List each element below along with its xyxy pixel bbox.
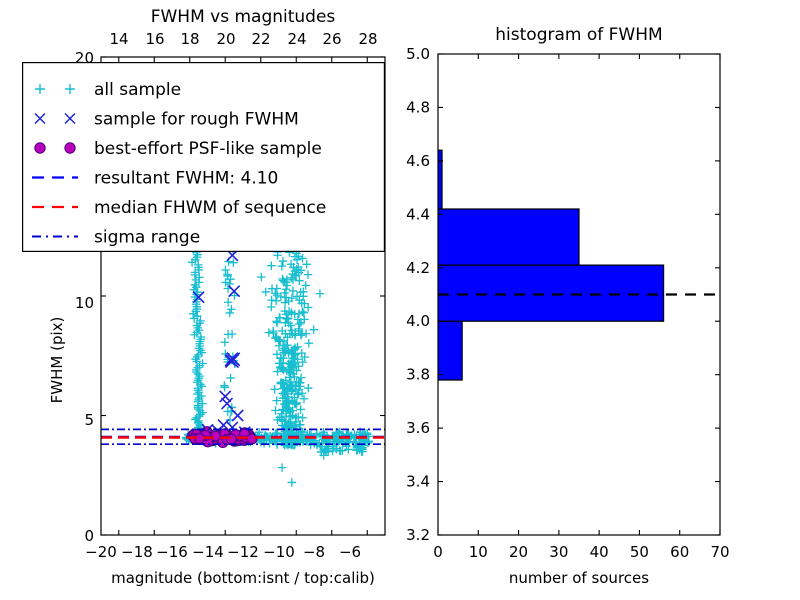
right-y-tick-label: 3.8 <box>406 366 430 384</box>
right-y-tick-label: 4.2 <box>406 259 430 277</box>
right-x-tick-label: 20 <box>509 543 528 561</box>
histogram-bar <box>438 150 442 209</box>
right-y-tick-label: 4.0 <box>406 312 430 330</box>
right-y-tick-label: 4.8 <box>406 98 430 116</box>
right-x-tick-label: 0 <box>433 543 443 561</box>
histogram-bar <box>438 209 579 265</box>
bottom-tick-label: −20 <box>85 543 117 561</box>
right-x-tick-label: 30 <box>549 543 568 561</box>
top-tick-label: 24 <box>287 30 306 48</box>
right-x-tick-label: 40 <box>590 543 609 561</box>
bottom-tick-label: −12 <box>227 543 259 561</box>
legend-svg: all samplesample for rough FWHMbest-effo… <box>22 62 385 252</box>
right-x-tick-label: 60 <box>670 543 689 561</box>
bottom-tick-label: −14 <box>192 543 224 561</box>
legend-item-label: sigma range <box>94 228 200 248</box>
top-tick-label: 20 <box>216 30 235 48</box>
scatter-data-layer <box>182 233 373 486</box>
top-tick-label: 26 <box>322 30 341 48</box>
left-xaxis-top-ticklabels: 14 16 18 20 22 24 26 28 <box>109 30 377 48</box>
right-x-tick-label: 50 <box>630 543 649 561</box>
legend-item-label: all sample <box>94 80 181 100</box>
legend-item-label: best-effort PSF-like sample <box>94 139 322 159</box>
top-tick-label: 14 <box>109 30 128 48</box>
legend-item-label: sample for rough FWHM <box>94 110 299 130</box>
legend-item-label: median FHWM of sequence <box>94 198 326 218</box>
right-histogram-panel: histogram of FWHM 3.23.43.63.84.04.24.44… <box>390 0 800 600</box>
left-xaxis-bottom-ticklabels: −20 −18 −16 −14 −12 −10 −8 −6 <box>85 543 361 561</box>
top-tick-label: 18 <box>180 30 199 48</box>
legend-box: all samplesample for rough FWHMbest-effo… <box>22 62 385 252</box>
right-y-tick-label: 5.0 <box>406 45 430 63</box>
top-tick-label: 28 <box>358 30 377 48</box>
histogram-bar <box>438 265 664 321</box>
histogram-bars-layer <box>438 150 664 380</box>
figure-canvas: FWHM vs magnitudes 14 16 18 20 22 24 26 … <box>0 0 800 600</box>
right-x-tick-label: 10 <box>469 543 488 561</box>
right-xaxis-label: number of sources <box>509 569 649 587</box>
histogram-bar <box>438 321 462 380</box>
left-xaxis-label: magnitude (bottom:isnt / top:calib) <box>111 569 375 587</box>
top-tick-label: 16 <box>145 30 164 48</box>
right-y-tick-label: 3.4 <box>406 473 430 491</box>
bottom-tick-label: −8 <box>303 543 325 561</box>
right-panel-svg: histogram of FWHM 3.23.43.63.84.04.24.44… <box>390 0 800 600</box>
y-tick-label: 10 <box>75 294 94 312</box>
bottom-tick-label: −18 <box>121 543 153 561</box>
bottom-tick-label: −10 <box>263 543 295 561</box>
right-y-tick-label: 4.4 <box>406 205 430 223</box>
right-xaxis-ticklabels: 010203040506070 <box>433 543 729 561</box>
right-y-tick-label: 3.2 <box>406 526 430 544</box>
right-x-tick-label: 70 <box>710 543 729 561</box>
legend-item-label: resultant FWHM: 4.10 <box>94 169 278 189</box>
top-tick-label: 22 <box>251 30 270 48</box>
left-yaxis-label: FWHM (pix) <box>48 317 66 404</box>
right-yaxis-ticklabels: 3.23.43.63.84.04.24.44.64.85.0 <box>406 45 430 544</box>
right-y-tick-label: 3.6 <box>406 419 430 437</box>
y-tick-label: 5 <box>84 411 94 429</box>
bottom-tick-label: −6 <box>339 543 361 561</box>
right-y-tick-label: 4.6 <box>406 152 430 170</box>
bottom-tick-label: −16 <box>156 543 188 561</box>
left-panel-title: FWHM vs magnitudes <box>151 7 336 27</box>
y-tick-label: 0 <box>84 527 94 545</box>
right-panel-title: histogram of FWHM <box>495 25 662 45</box>
